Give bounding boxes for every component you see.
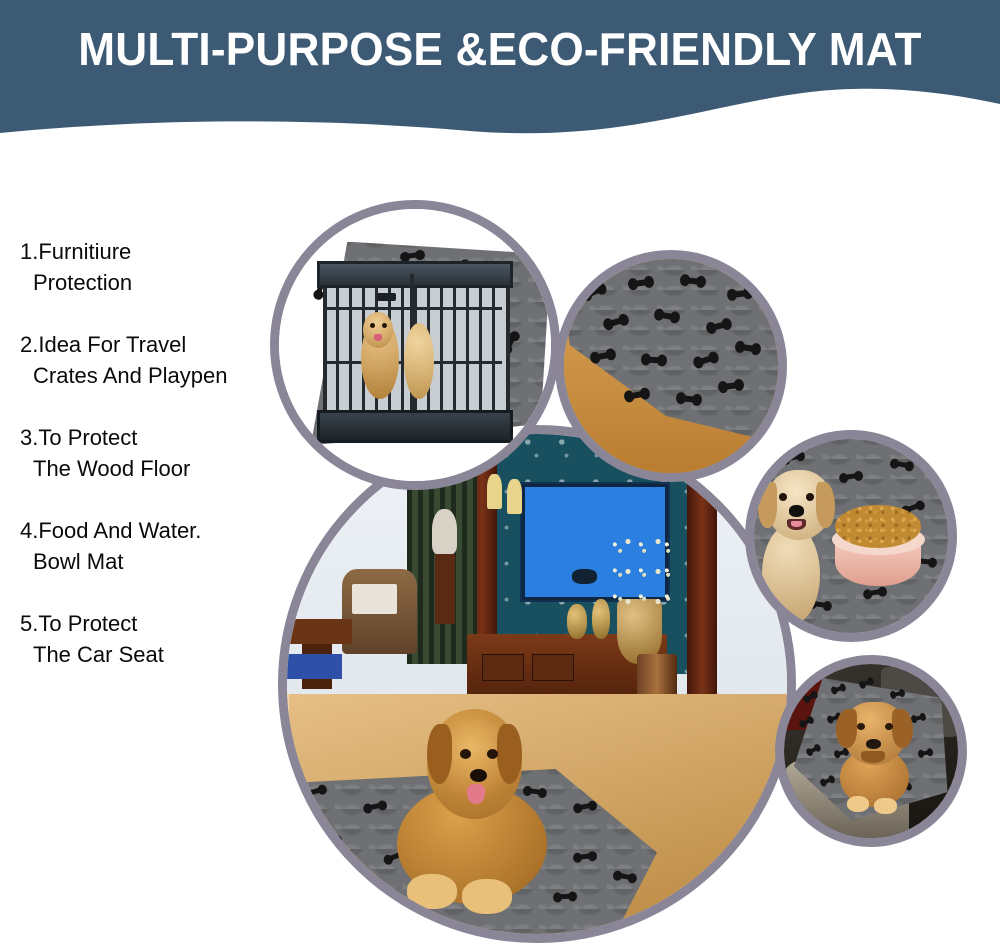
photo-crate — [270, 200, 560, 490]
food-bowl-scene — [754, 439, 948, 633]
photo-car-seat — [775, 655, 967, 847]
infographic-page: MULTI-PURPOSE &ECO-FRIENDLY MAT 1.Furnit… — [0, 0, 1000, 946]
car-seat-scene — [784, 664, 958, 838]
photo-living-room — [278, 425, 796, 943]
page-title: MULTI-PURPOSE &ECO-FRIENDLY MAT — [20, 22, 980, 76]
photo-collage — [0, 140, 1000, 946]
kibble — [835, 505, 920, 548]
crate-scene — [279, 209, 551, 481]
header-banner: MULTI-PURPOSE &ECO-FRIENDLY MAT — [0, 0, 1000, 140]
wood-floor-scene — [564, 259, 778, 473]
living-room-scene — [287, 434, 787, 934]
photo-food-bowl — [745, 430, 957, 642]
photo-wood-floor — [555, 250, 787, 482]
